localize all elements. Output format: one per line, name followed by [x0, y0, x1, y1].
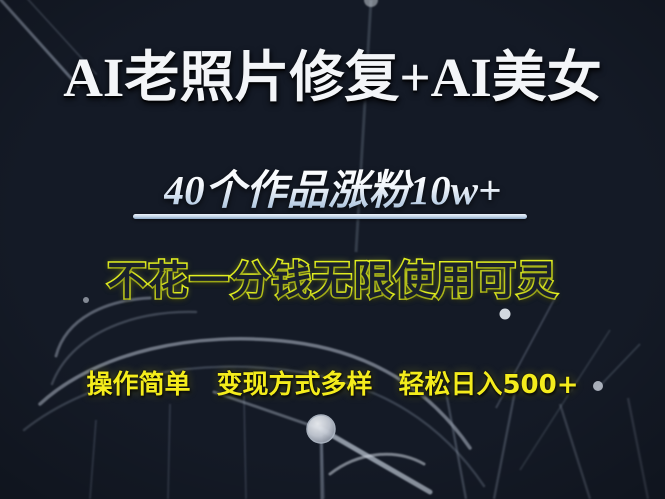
benefits-text: 操作简单 变现方式多样 轻松日入500+	[86, 368, 578, 402]
highlight-text: 不花一分钱无限使用可灵	[107, 256, 558, 306]
subheadline: 40个作品涨粉10w+	[164, 166, 502, 214]
subheadline-row: 40个作品涨粉10w+	[0, 166, 665, 214]
page-title: AI老照片修复+AI美女	[0, 46, 665, 110]
promo-poster: AI老照片修复+AI美女 40个作品涨粉10w+ 不花一分钱无限使用可灵 操作简…	[0, 0, 665, 499]
poster-text-layer: AI老照片修复+AI美女 40个作品涨粉10w+ 不花一分钱无限使用可灵 操作简…	[0, 0, 665, 499]
benefits-row: 操作简单 变现方式多样 轻松日入500+	[0, 368, 665, 402]
subheadline-underline	[133, 214, 527, 219]
highlight-row: 不花一分钱无限使用可灵	[0, 256, 665, 306]
